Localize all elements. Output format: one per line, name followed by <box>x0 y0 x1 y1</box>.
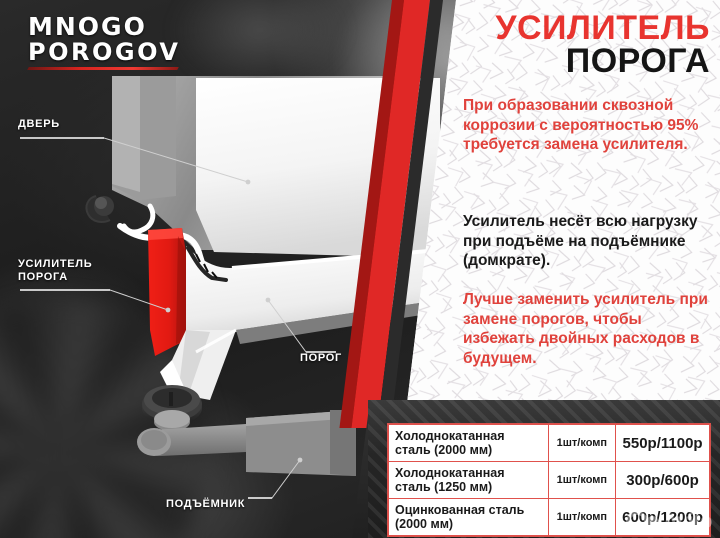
paragraph-corrosion: При образовании сквозной коррозии с веро… <box>463 96 711 155</box>
title-line-1: УСИЛИТЕЛЬ <box>452 12 710 45</box>
page-title: УСИЛИТЕЛЬ ПОРОГА <box>452 12 710 77</box>
cell-price: 300р/600р <box>616 462 710 499</box>
advertisement-banner: ДВЕРЬ УСИЛИТЕЛЬ ПОРОГА ПОРОГ ПОДЪЁМНИК M… <box>0 0 720 538</box>
cell-price: 550р/1100р <box>616 425 710 462</box>
table-row: Оцинкованная сталь (2000 мм) 1шт/комп 60… <box>389 499 710 536</box>
label-jack: ПОДЪЁМНИК <box>166 498 245 511</box>
cell-material: Холоднокатанная сталь (1250 мм) <box>389 462 549 499</box>
paragraph-replace-advice: Лучше заменить усилитель при замене поро… <box>463 290 711 368</box>
label-sill: ПОРОГ <box>300 352 342 365</box>
label-door: ДВЕРЬ <box>18 118 60 131</box>
logo-line-2: POROGOV <box>28 40 188 64</box>
cell-quantity: 1шт/комп <box>548 462 616 499</box>
cell-quantity: 1шт/комп <box>548 499 616 536</box>
cell-quantity: 1шт/комп <box>548 425 616 462</box>
label-reinforcement: УСИЛИТЕЛЬ ПОРОГА <box>18 258 92 284</box>
logo-underline-accent <box>27 67 179 70</box>
table-row: Холоднокатанная сталь (1250 мм) 1шт/комп… <box>389 462 710 499</box>
table-row: Холоднокатанная сталь (2000 мм) 1шт/комп… <box>389 425 710 462</box>
logo-line-1: MNOGO <box>28 14 188 39</box>
cell-material: Оцинкованная сталь (2000 мм) <box>389 499 549 536</box>
paragraph-load: Усилитель несёт всю нагрузку при подъёме… <box>463 212 711 271</box>
cell-material: Холоднокатанная сталь (2000 мм) <box>389 425 549 462</box>
price-table: Холоднокатанная сталь (2000 мм) 1шт/комп… <box>388 424 710 536</box>
cell-price: 600р/1200р <box>616 499 710 536</box>
brand-logo: MNOGO POROGOV <box>28 14 188 70</box>
title-line-2: ПОРОГА <box>452 45 710 78</box>
